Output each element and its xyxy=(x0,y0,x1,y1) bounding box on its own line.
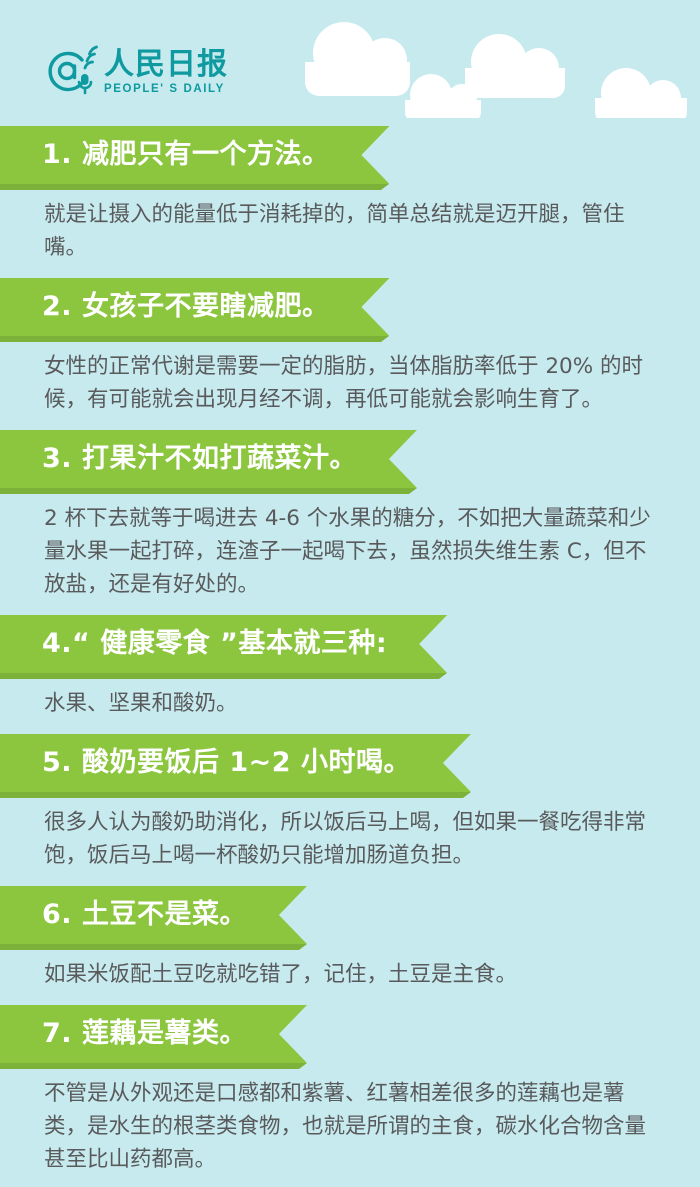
tip-banner-wrap-2: 2. 女孩子不要瞎减肥。 xyxy=(0,278,700,336)
tip-body-5: 很多人认为酸奶助消化，所以饭后马上喝，但如果一餐吃得非常饱，饭后马上喝一杯酸奶只… xyxy=(0,792,700,872)
tip-body-4: 水果、坚果和酸奶。 xyxy=(0,673,700,720)
brand-name-cn: 人民日报 xyxy=(104,49,228,81)
brand-logo: 人民日报 PEOPLE' S DAILY xyxy=(44,44,228,96)
tip-banner-shadow-1 xyxy=(0,184,389,190)
tip-item-3: 3. 打果汁不如打蔬菜汁。 2 杯下去就等于喝进去 4-6 个水果的糖分，不如把… xyxy=(0,430,700,601)
page-header: 人民日报 PEOPLE' S DAILY xyxy=(0,0,700,118)
cloud-icon-a xyxy=(305,62,410,96)
tip-title-1: 1. 减肥只有一个方法。 xyxy=(0,126,389,184)
tip-item-7: 7. 莲藕是薯类。 不管是从外观还是口感都和紫薯、红薯相差很多的莲藕也是薯类，是… xyxy=(0,1005,700,1176)
tip-banner-wrap-4: 4.“ 健康零食 ”基本就三种: xyxy=(0,615,700,673)
tip-item-2: 2. 女孩子不要瞎减肥。 女性的正常代谢是需要一定的脂肪，当体脂肪率低于 20%… xyxy=(0,278,700,416)
brand-wordmark: 人民日报 PEOPLE' S DAILY xyxy=(104,49,228,96)
tip-title-6: 6. 土豆不是菜。 xyxy=(0,886,307,944)
cloud-icon-d xyxy=(595,98,687,118)
tip-item-1: 1. 减肥只有一个方法。 就是让摄入的能量低于消耗掉的，简单总结就是迈开腿，管住… xyxy=(0,126,700,264)
tip-title-5: 5. 酸奶要饭后 1~2 小时喝。 xyxy=(0,734,471,792)
tip-banner-wrap-7: 7. 莲藕是薯类。 xyxy=(0,1005,700,1063)
tip-item-6: 6. 土豆不是菜。 如果米饭配土豆吃就吃错了，记住，土豆是主食。 xyxy=(0,886,700,991)
tip-banner-shadow-5 xyxy=(0,792,471,798)
tip-banner-shadow-6 xyxy=(0,944,307,950)
tip-banner-wrap-1: 1. 减肥只有一个方法。 xyxy=(0,126,700,184)
tip-body-3: 2 杯下去就等于喝进去 4-6 个水果的糖分，不如把大量蔬菜和少量水果一起打碎，… xyxy=(0,488,700,601)
at-sign-microphone-icon xyxy=(44,44,100,96)
tip-title-4: 4.“ 健康零食 ”基本就三种: xyxy=(0,615,447,673)
footer-credit: @人民日报 xyxy=(0,1176,700,1187)
tip-body-7: 不管是从外观还是口感都和紫薯、红薯相差很多的莲藕也是薯类，是水生的根茎类食物，也… xyxy=(0,1063,700,1176)
tip-banner-wrap-6: 6. 土豆不是菜。 xyxy=(0,886,700,944)
tip-title-7: 7. 莲藕是薯类。 xyxy=(0,1005,307,1063)
tip-banner-shadow-7 xyxy=(0,1063,307,1069)
tip-item-5: 5. 酸奶要饭后 1~2 小时喝。 很多人认为酸奶助消化，所以饭后马上喝，但如果… xyxy=(0,734,700,872)
tip-banner-shadow-3 xyxy=(0,488,417,494)
brand-name-en: PEOPLE' S DAILY xyxy=(104,82,228,96)
tip-banner-wrap-5: 5. 酸奶要饭后 1~2 小时喝。 xyxy=(0,734,700,792)
cloud-icon-c xyxy=(465,68,565,98)
tip-title-3: 3. 打果汁不如打蔬菜汁。 xyxy=(0,430,417,488)
tip-body-6: 如果米饭配土豆吃就吃错了，记住，土豆是主食。 xyxy=(0,944,700,991)
cloud-icon-b xyxy=(405,100,481,118)
tip-banner-wrap-3: 3. 打果汁不如打蔬菜汁。 xyxy=(0,430,700,488)
tip-banner-shadow-2 xyxy=(0,336,389,342)
tips-list: 1. 减肥只有一个方法。 就是让摄入的能量低于消耗掉的，简单总结就是迈开腿，管住… xyxy=(0,126,700,1187)
infographic-page: 人民日报 PEOPLE' S DAILY 1. 减肥只有一个方法。 就是让摄入的… xyxy=(0,0,700,1187)
tip-banner-shadow-4 xyxy=(0,673,447,679)
tip-item-4: 4.“ 健康零食 ”基本就三种: 水果、坚果和酸奶。 xyxy=(0,615,700,720)
tip-body-2: 女性的正常代谢是需要一定的脂肪，当体脂肪率低于 20% 的时候，有可能就会出现月… xyxy=(0,336,700,416)
tip-body-1: 就是让摄入的能量低于消耗掉的，简单总结就是迈开腿，管住嘴。 xyxy=(0,184,700,264)
tip-title-2: 2. 女孩子不要瞎减肥。 xyxy=(0,278,389,336)
